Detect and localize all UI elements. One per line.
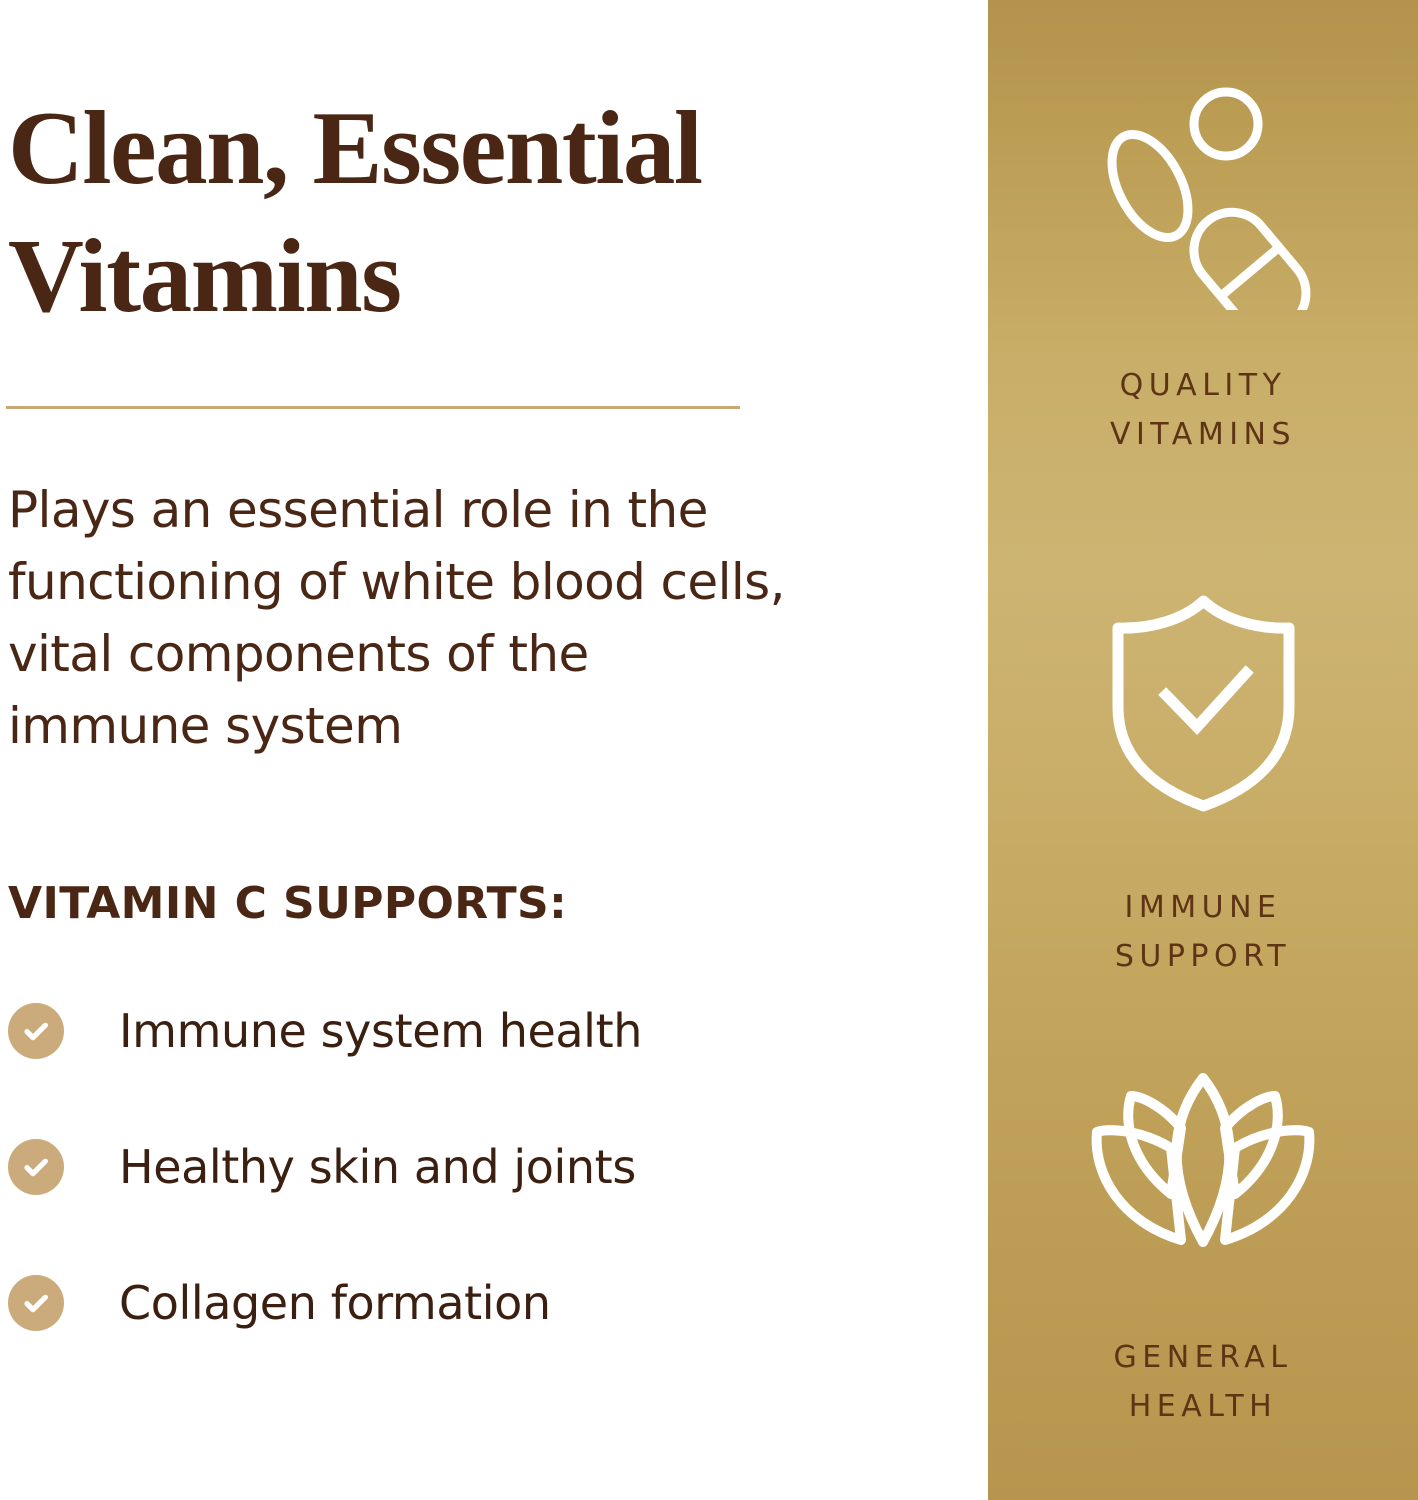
intro-paragraph: Plays an essential role in the functioni… (8, 474, 798, 762)
list-item-label: Collagen formation (119, 1280, 551, 1326)
list-item-label: Immune system health (119, 1008, 642, 1054)
content-column: Clean, Essential Vitamins Plays an essen… (0, 0, 988, 1500)
benefit-list: Immune system health Healthy skin and jo… (8, 995, 868, 1403)
page-title: Clean, Essential Vitamins (8, 84, 908, 340)
title-divider (6, 406, 740, 409)
feature-label: IMMUNE SUPPORT (988, 884, 1418, 981)
pills-icon (988, 70, 1418, 320)
check-icon (8, 1275, 64, 1331)
list-item: Collagen formation (8, 1267, 868, 1339)
lotus-flower-icon (988, 1060, 1418, 1270)
list-item-label: Healthy skin and joints (119, 1144, 636, 1190)
list-item: Immune system health (8, 995, 868, 1067)
feature-panel: QUALITY VITAMINS IMMUNE SUPPORT (988, 0, 1418, 1500)
feature-general-health: GENERAL HEALTH (988, 1060, 1418, 1431)
product-benefits-infographic: Clean, Essential Vitamins Plays an essen… (0, 0, 1418, 1500)
check-icon (8, 1139, 64, 1195)
feature-label: QUALITY VITAMINS (988, 362, 1418, 459)
feature-quality-vitamins: QUALITY VITAMINS (988, 70, 1418, 459)
feature-label: GENERAL HEALTH (988, 1334, 1418, 1431)
shield-check-icon (988, 578, 1418, 828)
section-heading-supports: VITAMIN C SUPPORTS: (8, 878, 567, 929)
check-icon (8, 1003, 64, 1059)
feature-immune-support: IMMUNE SUPPORT (988, 578, 1418, 981)
list-item: Healthy skin and joints (8, 1131, 868, 1203)
